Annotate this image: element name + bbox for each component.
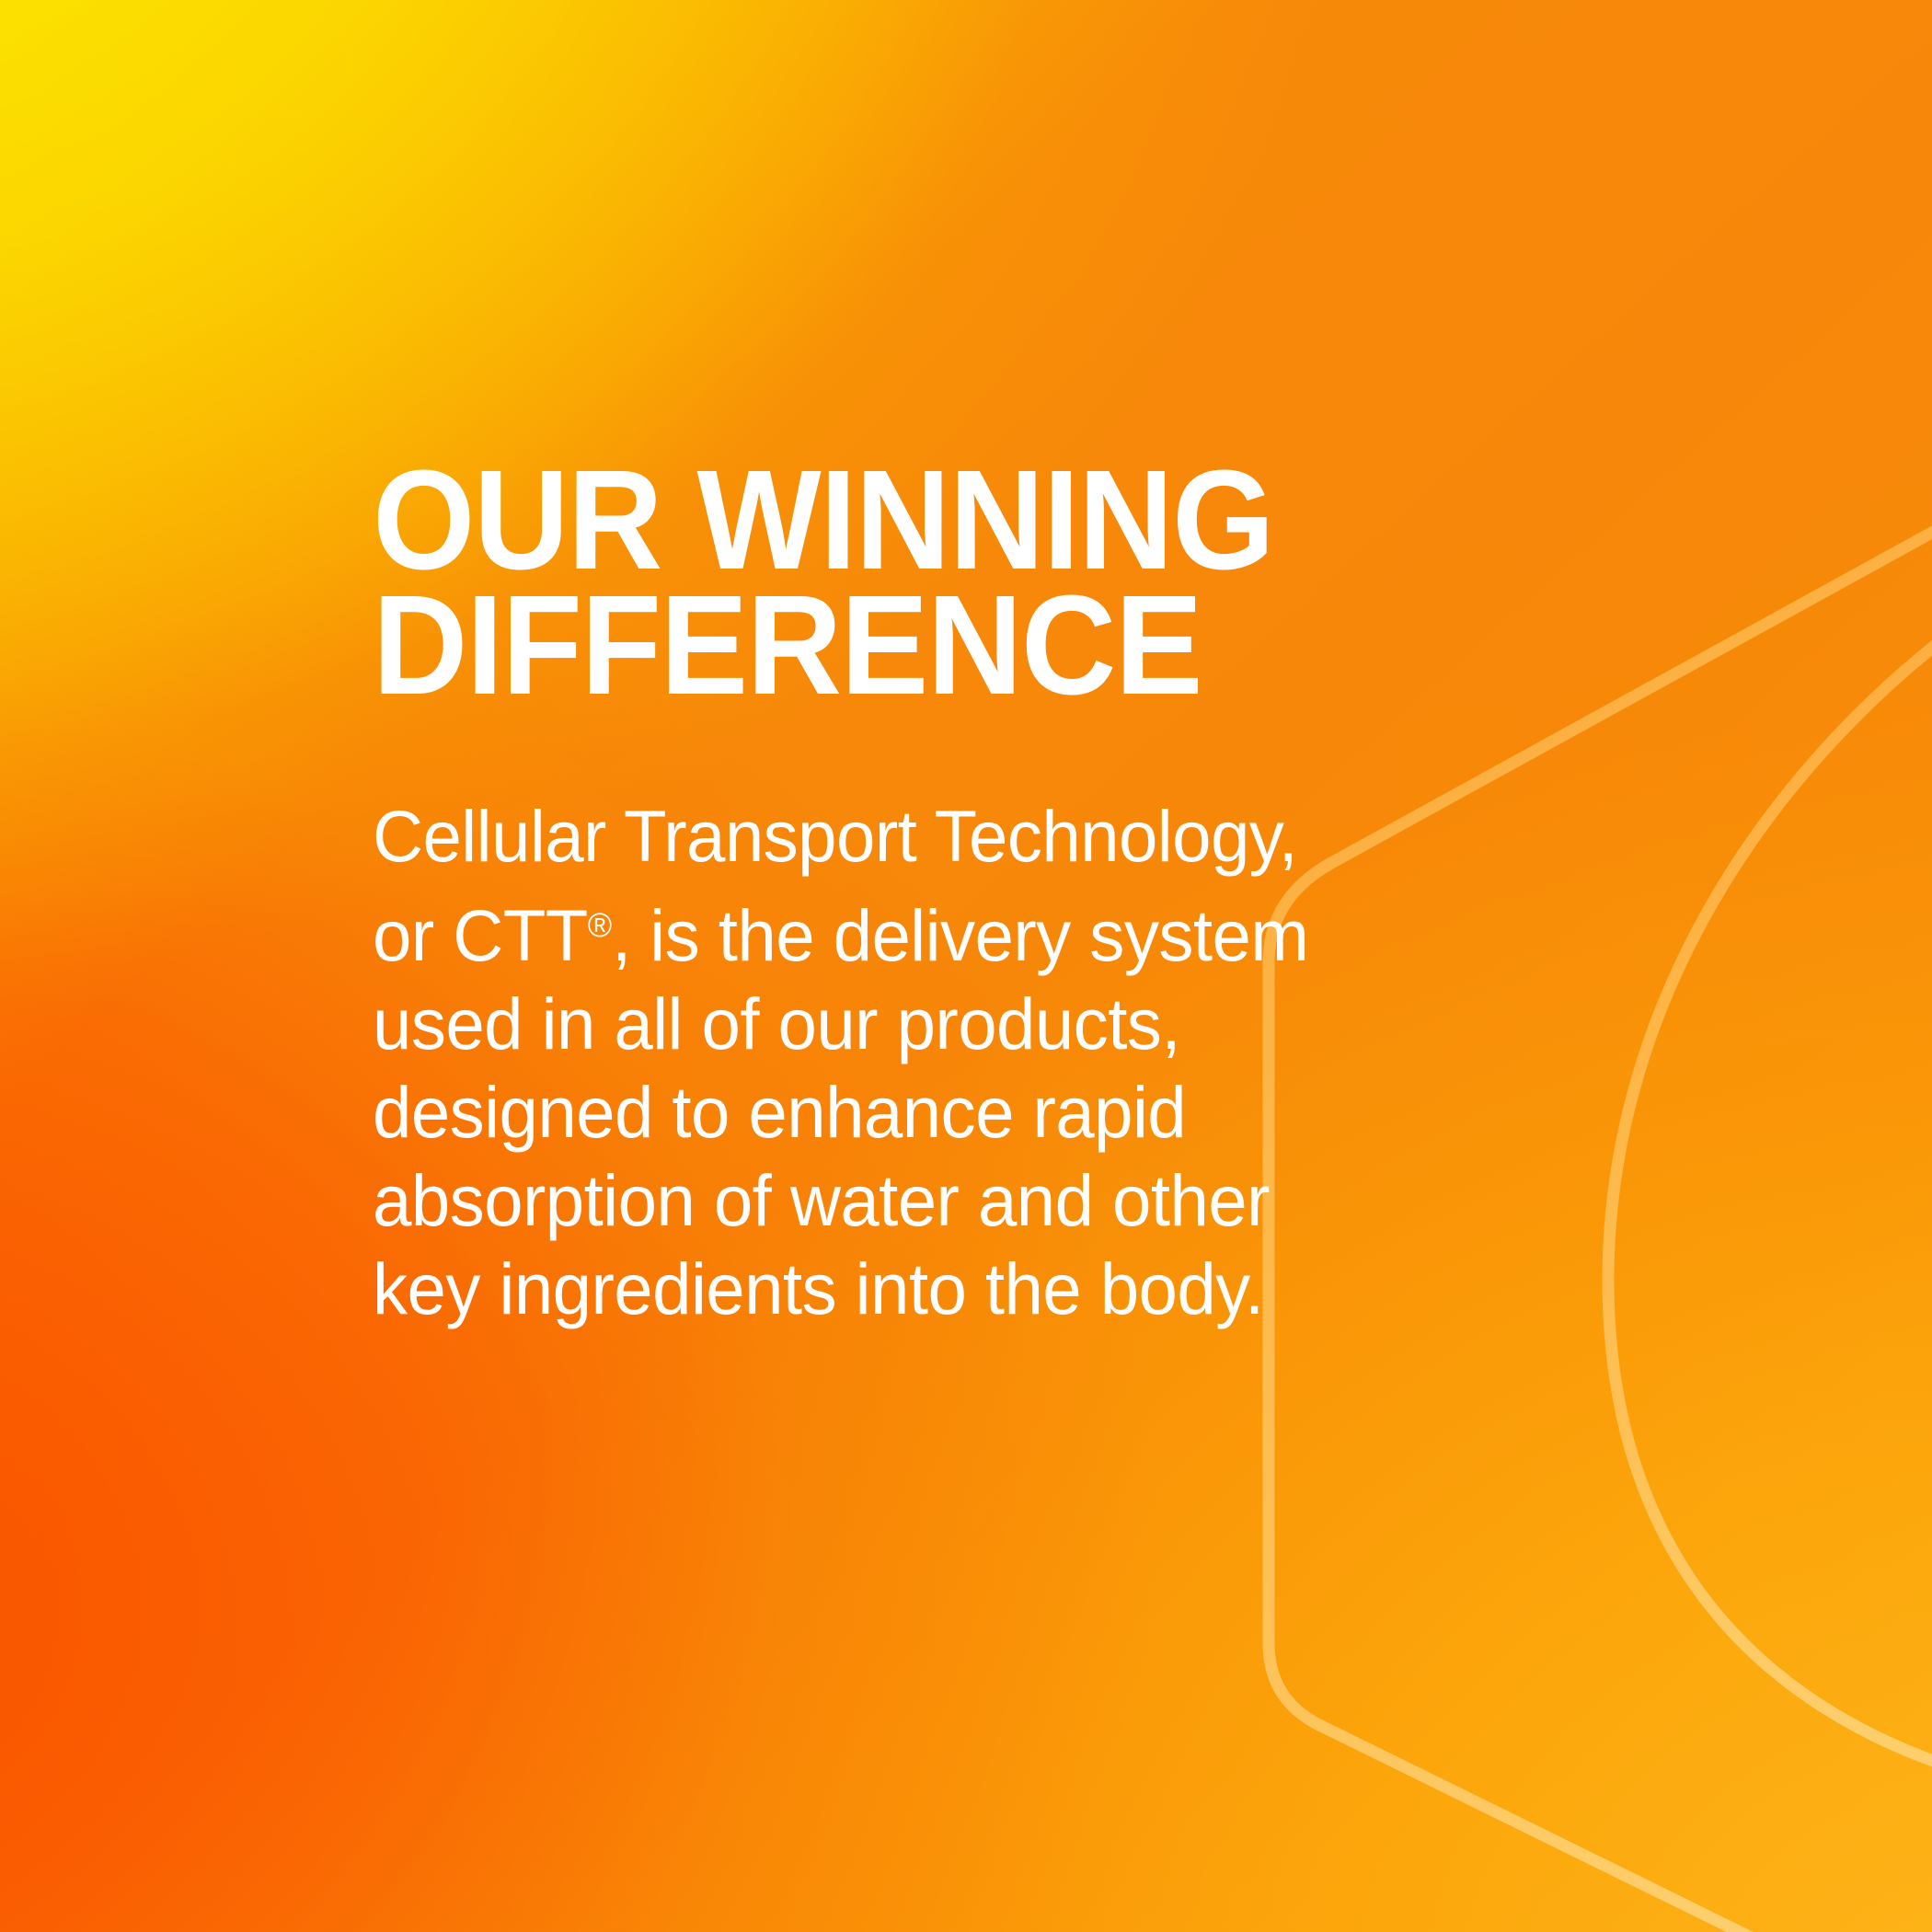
body-paragraph: Cellular Transport Technology, or CTT®, …: [373, 707, 1527, 1333]
text-block: OUR WINNING DIFFERENCE Cellular Transpor…: [373, 457, 1569, 1333]
promo-card: OUR WINNING DIFFERENCE Cellular Transpor…: [0, 0, 1932, 1932]
page-title: OUR WINNING DIFFERENCE: [373, 457, 1485, 707]
line-art-arc: [1608, 635, 1932, 1790]
registered-trademark-icon: ®: [588, 905, 612, 944]
